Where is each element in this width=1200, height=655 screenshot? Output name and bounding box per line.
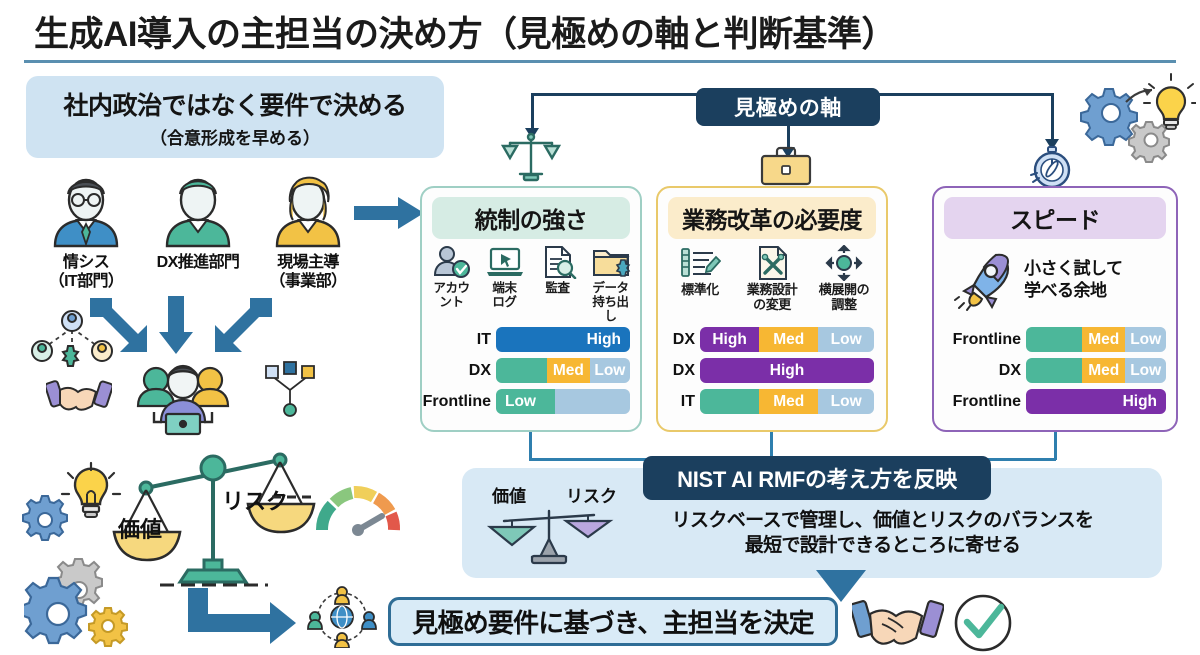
bar-row: IT Med Low bbox=[658, 388, 886, 415]
panel-reform-need: 業務改革の必要度 標準化 業務設計の変更 bbox=[656, 186, 888, 432]
premise-main-text: 社内政治ではなく要件で決める bbox=[63, 86, 406, 122]
data-export-cell: データ持ち出し bbox=[587, 245, 634, 323]
speed-caption-line-1: 小さく試して bbox=[1024, 258, 1123, 280]
person-frontline-icon bbox=[265, 172, 351, 248]
persona-dx: DX推進部門 bbox=[142, 172, 254, 272]
standardization-icon bbox=[679, 245, 721, 281]
risk-gauge-icon bbox=[312, 476, 404, 547]
axis-connector-left-h bbox=[531, 93, 699, 96]
account-check-caption: アカウント bbox=[428, 281, 475, 309]
bracket-control-down bbox=[529, 432, 532, 460]
standardization-cell: 標準化 bbox=[667, 245, 733, 312]
bar-track: High bbox=[700, 358, 874, 383]
bar-label: Frontline bbox=[934, 331, 1026, 349]
persona-dx-label-1: DX推進部門 bbox=[142, 254, 254, 272]
panel-reform-title: 業務改革の必要度 bbox=[668, 197, 876, 239]
bar-segment: Med bbox=[1082, 358, 1125, 383]
bar-label: Frontline bbox=[934, 393, 1026, 411]
handshake-small-icon bbox=[46, 374, 112, 419]
data-export-folder-icon bbox=[591, 245, 631, 279]
panel-control-title: 統制の強さ bbox=[432, 197, 630, 239]
bar-track: Med Low bbox=[1026, 327, 1166, 352]
bar-track: High bbox=[496, 327, 630, 352]
bar-label: DX bbox=[422, 362, 496, 380]
global-team-icon bbox=[306, 586, 378, 653]
laptop-log-cell: 端末ログ bbox=[481, 245, 528, 323]
bar-row: DX High bbox=[658, 357, 886, 384]
process-redesign-cell: 業務設計の変更 bbox=[739, 245, 805, 312]
bar-segment: Low bbox=[1125, 327, 1166, 352]
data-export-caption: データ持ち出し bbox=[587, 281, 634, 323]
bar-label: IT bbox=[658, 393, 700, 411]
bar-segment: High bbox=[496, 327, 630, 352]
decision-nodes-icon bbox=[262, 360, 318, 423]
bar-row: DX High Med Low bbox=[658, 326, 886, 353]
bar-label: DX bbox=[934, 362, 1026, 380]
value-label: 価値 bbox=[118, 512, 162, 544]
bar-label: IT bbox=[422, 331, 496, 349]
bar-segment: Low bbox=[1125, 358, 1166, 383]
team-network-icon bbox=[26, 308, 118, 377]
bar-row: Frontline High bbox=[934, 388, 1176, 415]
arrow-personas-to-panels bbox=[354, 196, 426, 235]
account-check-cell: アカウント bbox=[428, 245, 475, 323]
bar-segment bbox=[1026, 358, 1082, 383]
bar-label: DX bbox=[658, 362, 700, 380]
bar-row: Frontline Low bbox=[422, 388, 640, 415]
standardization-caption: 標準化 bbox=[681, 283, 719, 298]
panel-control-icon-row: アカウント 端末ログ 監査 bbox=[422, 245, 640, 323]
bar-track: Med Low bbox=[1026, 358, 1166, 383]
bar-label: DX bbox=[658, 331, 700, 349]
page-title: 生成AI導入の主担当の決め方（見極めの軸と判断基準） bbox=[34, 6, 896, 57]
mini-value-label: 価値 bbox=[492, 482, 526, 507]
audit-caption: 監査 bbox=[545, 281, 569, 295]
persona-frontline: 現場主導 （事業部） bbox=[252, 172, 364, 292]
small-gear-icon bbox=[18, 493, 68, 548]
bar-segment: Med bbox=[759, 327, 818, 352]
persona-it: 情シス （IT部門） bbox=[30, 172, 142, 292]
panel-speed-title: スピード bbox=[944, 197, 1166, 239]
axis-connector-left-v bbox=[531, 93, 534, 129]
bar-segment bbox=[700, 389, 759, 414]
account-check-icon bbox=[432, 245, 472, 279]
horizontal-rollout-icon bbox=[823, 245, 865, 281]
arrow-to-conclusion bbox=[186, 588, 298, 651]
panel-speed-bars: Frontline Med Low DX Med Low Frontline bbox=[934, 326, 1176, 419]
balance-scale-icon bbox=[500, 130, 562, 191]
premise-sub-text: （合意形成を早める） bbox=[150, 124, 320, 149]
bar-row: DX Med Low bbox=[934, 357, 1176, 384]
bar-label: Frontline bbox=[422, 393, 496, 411]
handshake-icon bbox=[852, 596, 944, 655]
laptop-log-icon bbox=[485, 245, 525, 279]
nist-body-line-2: 最短で設計できるところに寄せる bbox=[620, 533, 1145, 558]
bar-segment bbox=[496, 358, 547, 383]
bar-track: High bbox=[1026, 389, 1166, 414]
bracket-speed-down bbox=[1054, 432, 1057, 460]
axis-connector-right-v bbox=[1051, 93, 1054, 140]
speed-rocket-caption: 小さく試して 学べる余地 bbox=[1024, 258, 1123, 302]
bar-segment: High bbox=[700, 327, 759, 352]
person-dx-icon bbox=[155, 172, 241, 248]
bar-segment bbox=[1026, 327, 1082, 352]
persona-frontline-label-1: 現場主導 bbox=[252, 254, 364, 272]
bar-segment: High bbox=[1026, 389, 1166, 414]
audit-document-cell: 監査 bbox=[534, 245, 581, 323]
gears-bulb-idea-icon bbox=[1068, 72, 1196, 169]
bar-segment: High bbox=[700, 358, 874, 383]
team-center-icon bbox=[128, 358, 238, 441]
nist-body: リスクベースで管理し、価値とリスクのバランスを 最短で設計できるところに寄せる bbox=[620, 508, 1145, 559]
bar-segment: Med bbox=[1082, 327, 1125, 352]
bar-segment: Low bbox=[818, 327, 874, 352]
panel-reform-icon-row: 標準化 業務設計の変更 bbox=[658, 245, 886, 312]
speed-rocket-row: 小さく試して 学べる余地 bbox=[934, 239, 1176, 311]
panel-control-strength: 統制の強さ アカウント 端末ログ bbox=[420, 186, 642, 432]
panel-speed: スピード 小さく試して 学べる余地 Frontline bbox=[932, 186, 1178, 432]
persona-it-label-1: 情シス bbox=[30, 254, 142, 272]
gear-cluster-icon bbox=[24, 558, 142, 655]
horizontal-rollout-cell: 横展開の調整 bbox=[811, 245, 877, 312]
axis-header-pill: 見極めの軸 bbox=[696, 88, 880, 126]
infographic-canvas: 生成AI導入の主担当の決め方（見極めの軸と判断基準） 社内政治ではなく要件で決め… bbox=[0, 0, 1200, 655]
bar-row: IT High bbox=[422, 326, 640, 353]
bar-row: Frontline Med Low bbox=[934, 326, 1176, 353]
premise-box: 社内政治ではなく要件で決める （合意形成を早める） bbox=[26, 76, 444, 158]
nist-body-line-1: リスクベースで管理し、価値とリスクのバランスを bbox=[620, 508, 1145, 533]
speed-caption-line-2: 学べる余地 bbox=[1024, 280, 1123, 302]
rocket-icon bbox=[952, 249, 1014, 311]
bar-segment: Low bbox=[590, 358, 630, 383]
bar-segment bbox=[555, 389, 630, 414]
bar-segment: Low bbox=[818, 389, 874, 414]
check-approved-icon bbox=[952, 592, 1014, 655]
mini-risk-label: リスク bbox=[566, 482, 617, 507]
axis-connector-right-h bbox=[878, 93, 1053, 96]
panel-reform-bars: DX High Med Low DX High IT Med Low bbox=[658, 326, 886, 419]
bar-segment: Med bbox=[547, 358, 590, 383]
title-divider bbox=[24, 60, 1176, 63]
process-redesign-caption: 業務設計の変更 bbox=[747, 283, 797, 312]
bar-row: DX Med Low bbox=[422, 357, 640, 384]
bar-track: Low bbox=[496, 389, 630, 414]
mini-balance-icon bbox=[484, 505, 614, 576]
process-redesign-icon bbox=[751, 245, 793, 281]
bar-segment: Med bbox=[759, 389, 818, 414]
horizontal-rollout-caption: 横展開の調整 bbox=[819, 283, 869, 312]
person-it-icon bbox=[43, 172, 129, 248]
arrow-converge-mid bbox=[158, 296, 194, 359]
bar-track: Med Low bbox=[700, 389, 874, 414]
audit-document-icon bbox=[538, 245, 578, 279]
bar-track: High Med Low bbox=[700, 327, 874, 352]
arrow-converge-right bbox=[212, 296, 274, 359]
bar-track: Med Low bbox=[496, 358, 630, 383]
persona-it-label-2: （IT部門） bbox=[30, 273, 142, 291]
conclusion-box: 見極め要件に基づき、主担当を決定 bbox=[388, 597, 838, 646]
persona-frontline-label-2: （事業部） bbox=[252, 273, 364, 291]
panel-control-bars: IT High DX Med Low Frontline Low bbox=[422, 326, 640, 419]
laptop-log-caption: 端末ログ bbox=[492, 281, 516, 309]
bar-segment: Low bbox=[496, 389, 555, 414]
nist-pill: NIST AI RMFの考え方を反映 bbox=[643, 456, 991, 500]
